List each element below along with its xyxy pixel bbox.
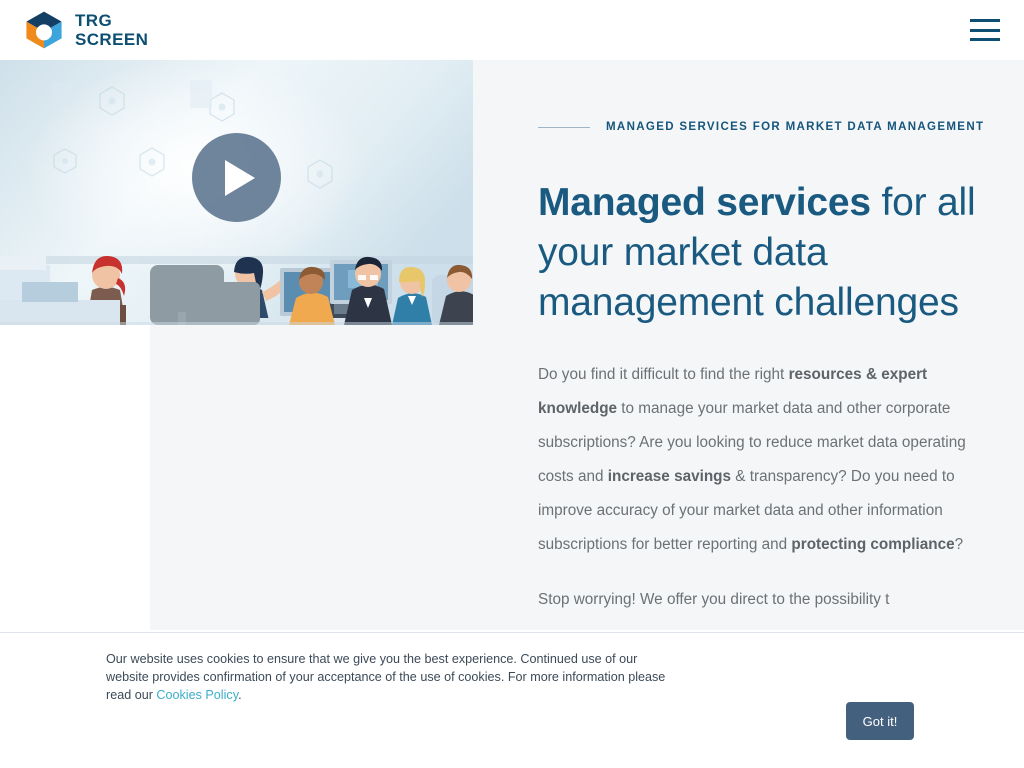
p1-bold3: protecting compliance <box>791 536 954 553</box>
eyebrow-label: MANAGED SERVICES FOR MARKET DATA MANAGEM… <box>606 121 984 133</box>
hamburger-bar <box>970 38 1000 41</box>
hero-content: MANAGED SERVICES FOR MARKET DATA MANAGEM… <box>538 60 984 638</box>
cookie-consent-banner: Our website uses cookies to ensure that … <box>0 632 1024 768</box>
paragraph-1: Do you find it difficult to find the rig… <box>538 358 984 562</box>
brand-logo[interactable]: TRG SCREEN <box>24 10 148 50</box>
hamburger-menu-icon[interactable] <box>970 19 1000 41</box>
trg-cube-logo-icon <box>24 10 64 50</box>
p1-part4: ? <box>955 536 964 553</box>
brand-name-line2: SCREEN <box>75 31 148 48</box>
cookie-text-after: . <box>238 688 242 702</box>
brand-name-line1: TRG <box>75 12 148 29</box>
hamburger-bar <box>970 19 1000 22</box>
page-title: Managed services for all your market dat… <box>538 178 984 328</box>
site-header: TRG SCREEN <box>0 0 1024 60</box>
play-icon[interactable] <box>192 133 281 222</box>
video-thumbnail[interactable] <box>0 60 473 325</box>
hamburger-bar <box>970 29 1000 32</box>
eyebrow-rule <box>538 127 590 128</box>
p1-part1: Do you find it difficult to find the rig… <box>538 366 789 383</box>
headline-bold: Managed services <box>538 181 871 224</box>
cookie-message: Our website uses cookies to ensure that … <box>106 650 666 704</box>
cookies-policy-link[interactable]: Cookies Policy <box>156 688 238 702</box>
accept-cookies-button[interactable]: Got it! <box>846 702 914 740</box>
paragraph-2: Stop worrying! We offer you direct to th… <box>538 583 984 617</box>
hero-body: Do you find it difficult to find the rig… <box>538 358 984 617</box>
eyebrow-row: MANAGED SERVICES FOR MARKET DATA MANAGEM… <box>538 121 984 133</box>
p1-bold2: increase savings <box>608 468 731 485</box>
